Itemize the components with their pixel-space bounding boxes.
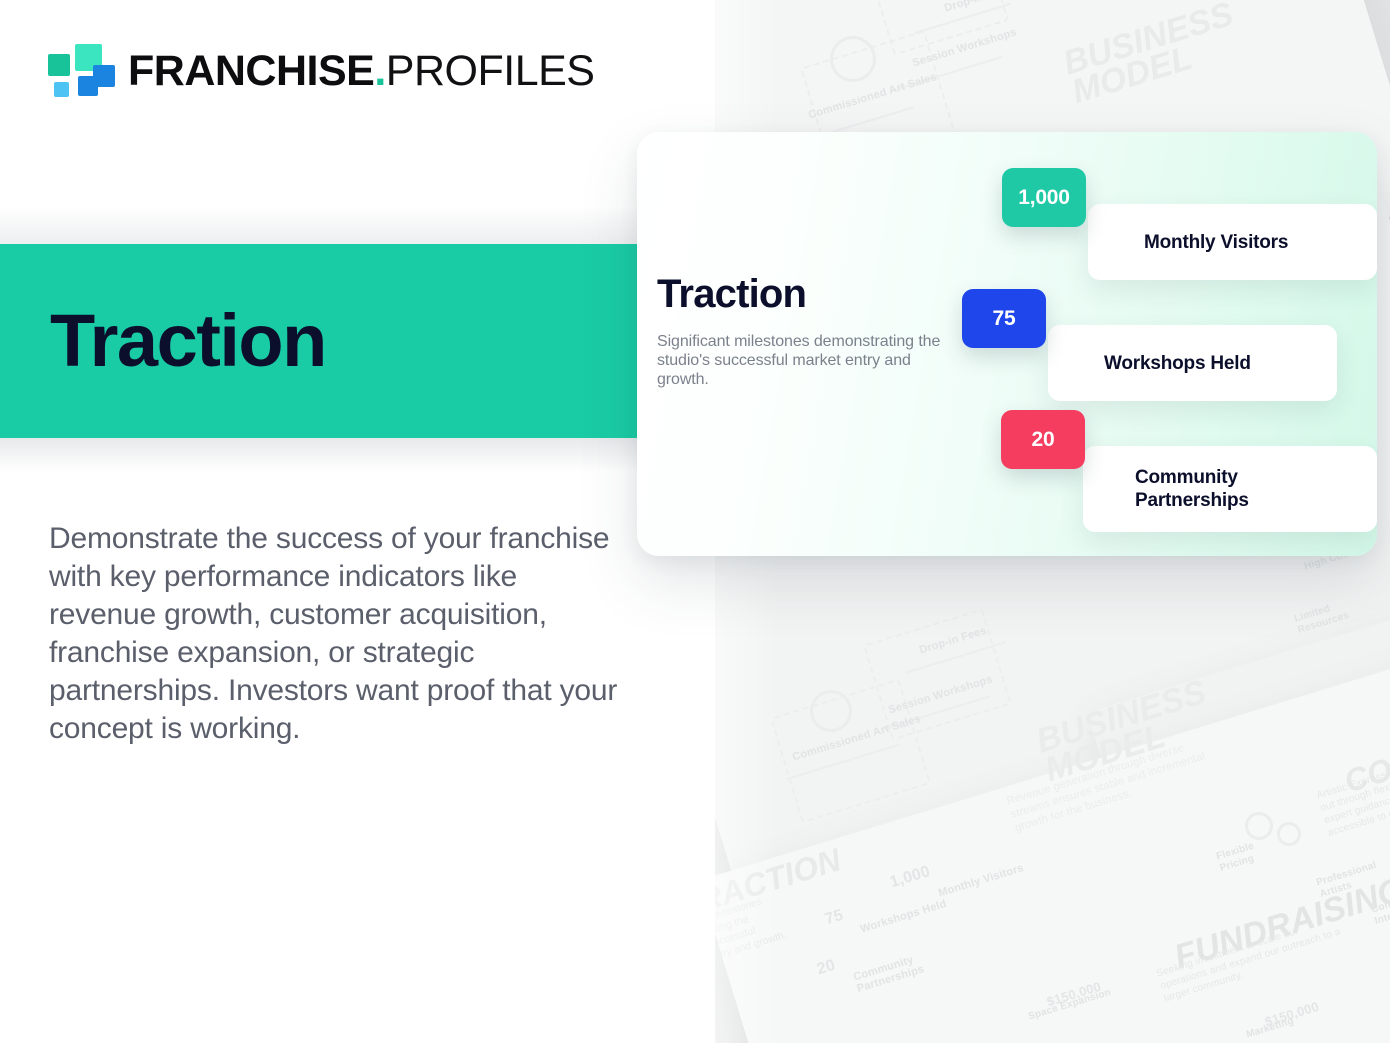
metric-label-card: Monthly Visitors [1088,204,1377,280]
metric-value: 20 [1032,428,1055,452]
traction-preview-card[interactable]: Traction Significant milestones demonstr… [637,132,1377,556]
card-description: Significant milestones demonstrating the… [657,332,957,389]
metric-value: 1,000 [1018,186,1070,210]
logo-word-profiles: PROFILES [386,47,595,95]
metric-row[interactable]: Workshops Held 75 [993,289,1377,399]
metric-value-chip: 1,000 [1002,168,1086,227]
ghost-coin-icon [1245,812,1273,840]
section-description: Demonstrate the success of your franchis… [49,520,627,748]
metric-row[interactable]: Monthly Visitors 1,000 [993,168,1377,278]
card-text-block: Traction Significant milestones demonstr… [657,274,977,389]
metric-list: Monthly Visitors 1,000 Workshops Held 75… [993,132,1377,556]
brand-logo[interactable]: FRANCHISE.PROFILES [48,44,594,98]
logo-word-franchise: FRANCHISE [128,47,374,95]
metric-value-chip: 20 [1001,410,1085,469]
card-title: Traction [657,274,977,314]
logo-wordmark: FRANCHISE.PROFILES [128,50,594,93]
logo-square-lightblue [54,82,69,97]
logo-square-blue [93,65,115,87]
metric-value: 75 [993,307,1016,331]
metric-label-card: Workshops Held [1048,325,1337,401]
slide-canvas: Drop-in Fees Session Workshops Commissio… [0,0,1390,1043]
banner-top-shadow [0,206,639,244]
banner-bottom-shadow [0,438,639,472]
logo-dot: . [374,47,385,95]
logo-square-teal-dark [48,54,70,76]
metric-row[interactable]: Community Partnerships 20 [993,410,1377,520]
logo-squares-icon [48,44,106,98]
metric-value-chip: 75 [962,289,1046,348]
ghost-coin-icon [1277,822,1301,846]
page-title: Traction [50,304,326,378]
metric-label: Workshops Held [1104,352,1251,375]
metric-label: Monthly Visitors [1144,231,1288,254]
metric-label: Community Partnerships [1135,466,1249,512]
metric-label-card: Community Partnerships [1083,446,1377,532]
section-banner: Traction [0,244,639,438]
